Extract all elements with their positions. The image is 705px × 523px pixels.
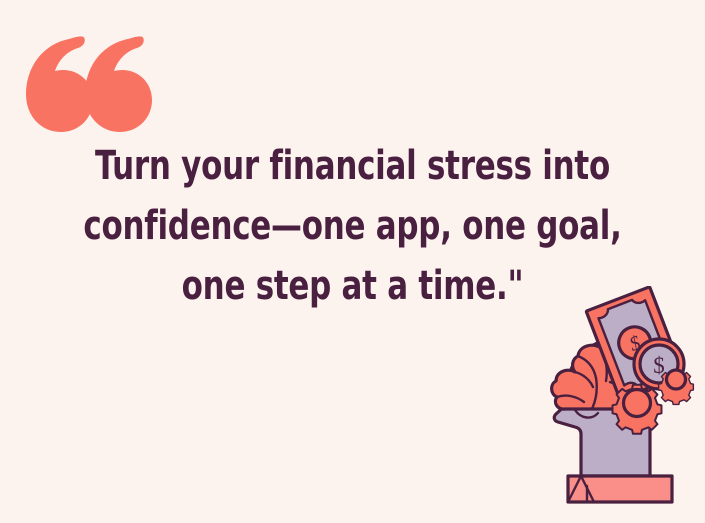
open-quote-icon [24,36,152,136]
shirt-collar [568,476,672,502]
head-with-brain-money-gears-illustration: .ol { stroke:#4A2040; stroke-width:3.2; … [548,286,700,523]
quote-line-3: one step at a time." [75,256,630,316]
quote-line-2: confidence—one app, one goal, [75,196,630,256]
gear-large [613,385,662,434]
quote-card: Turn your financial stress into confiden… [0,0,705,523]
quote-line-1: Turn your financial stress into [75,136,630,196]
quote-text-block: Turn your financial stress into confiden… [75,136,630,316]
gear-small [659,370,694,405]
